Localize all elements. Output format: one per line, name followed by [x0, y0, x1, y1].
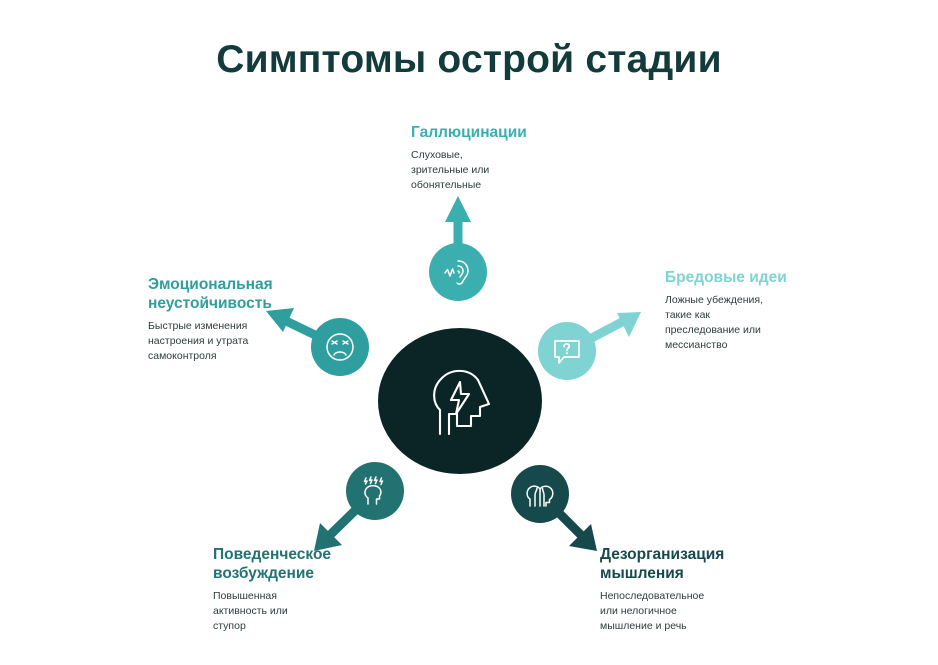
node-circle-delusions[interactable] [538, 322, 596, 380]
node-text-hallucinations: Галлюцинации Слуховые, зрительные или об… [411, 124, 591, 193]
speech-bubble-question-icon [551, 335, 583, 367]
sad-face-icon [323, 330, 357, 364]
head-lightning-icon [427, 364, 493, 438]
node-description-emotional: Быстрые изменения настроения и утрата са… [148, 319, 328, 364]
node-description-hallucinations: Слуховые, зрительные или обонятельные [411, 148, 591, 193]
node-text-emotional: Эмоциональная неустойчивость Быстрые изм… [148, 276, 328, 364]
page-title: Симптомы острой стадии [0, 38, 938, 82]
node-description-disorganized: Непоследовательное или нелогичное мышлен… [600, 589, 800, 634]
node-circle-hallucinations[interactable] [429, 243, 487, 301]
ear-sound-icon [442, 256, 474, 288]
node-heading-disorganized: Дезорганизация мышления [600, 546, 800, 584]
node-circle-disorganized[interactable] [511, 465, 569, 523]
node-heading-delusions: Бредовые идеи [665, 269, 855, 288]
node-description-delusions: Ложные убеждения, такие как преследовани… [665, 293, 855, 353]
node-heading-hallucinations: Галлюцинации [411, 124, 591, 143]
node-circle-behavioral[interactable] [346, 462, 404, 520]
node-text-disorganized: Дезорганизация мышления Непоследовательн… [600, 546, 800, 634]
infographic-canvas: Симптомы острой стадии [0, 0, 938, 665]
node-text-behavioral: Поведенческое возбуждение Повышенная акт… [213, 546, 403, 634]
agitated-head-icon [358, 474, 392, 508]
node-description-behavioral: Повышенная активность или ступор [213, 589, 403, 634]
center-node [378, 328, 542, 474]
tangled-head-icon [523, 478, 557, 510]
node-heading-behavioral: Поведенческое возбуждение [213, 546, 403, 584]
node-text-delusions: Бредовые идеи Ложные убеждения, такие ка… [665, 269, 855, 353]
node-heading-emotional: Эмоциональная неустойчивость [148, 276, 328, 314]
